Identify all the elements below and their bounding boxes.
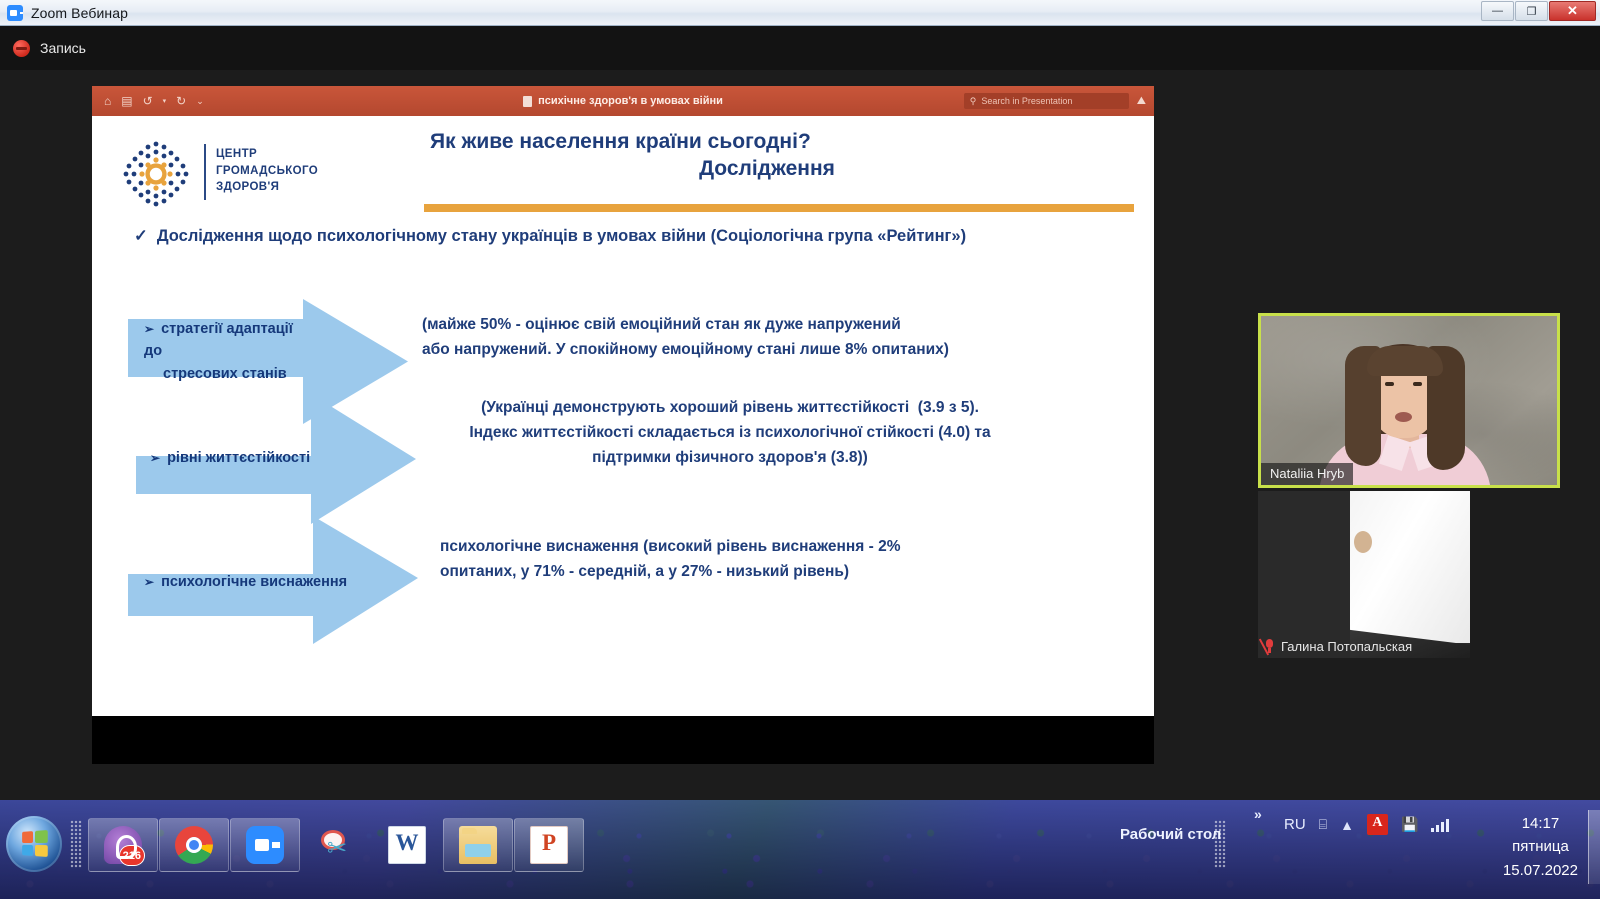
toolbar-gripper-left[interactable] (70, 820, 82, 868)
minimize-button[interactable]: — (1481, 1, 1514, 21)
arrow-shape-3 (128, 516, 418, 646)
taskbar-item-explorer[interactable] (443, 818, 513, 872)
taskbar-item-powerpoint[interactable] (514, 818, 584, 872)
recording-bar: Запись (0, 26, 1600, 70)
system-tray: RU ⌸ ▲ 💾 (1284, 814, 1449, 835)
presentation-toolbar: ⌂ ▤ ↺ ▾ ↻ ⌄ психічне здоров'я в умовах в… (92, 86, 1154, 116)
participant-video-2 (1350, 491, 1470, 643)
taskbar-item-word[interactable] (372, 818, 442, 872)
participant-tile-active-speaker[interactable]: Nataliia Hryb (1258, 313, 1560, 488)
meeting-stage: ⌂ ▤ ↺ ▾ ↻ ⌄ психічне здоров'я в умовах в… (0, 70, 1600, 800)
logo-line-2: ГРОМАДСЬКОГО (216, 163, 318, 180)
more-options-icon[interactable]: ⌄ (196, 97, 204, 106)
block-body-3-line-2: опитаних, у 71% - середній, а у 27% - ни… (440, 559, 1100, 584)
word-icon (388, 826, 426, 864)
start-button[interactable] (6, 816, 62, 872)
document-title-group: психічне здоров'я в умовах війни (463, 95, 783, 107)
participant-video-1 (1261, 316, 1557, 485)
clock-date: 15.07.2022 (1503, 859, 1578, 882)
window-title-bar: Zoom Вебинар — ❐ ✕ (0, 0, 1600, 26)
block-body-1-line-1: (майже 50% - оцінює свій емоційний стан … (422, 312, 1112, 337)
block-body-2-line-2: Індекс життєстійкості складається із пси… (370, 420, 1090, 445)
participant-tile-2[interactable]: Галина Потопальская (1258, 491, 1470, 658)
link-icon[interactable]: ⌸ (1319, 816, 1327, 833)
toolbar-left-icons: ⌂ ▤ ↺ ▾ ↻ ⌄ (92, 95, 204, 107)
shared-presentation-window: ⌂ ▤ ↺ ▾ ↻ ⌄ психічне здоров'я в умовах в… (92, 86, 1154, 764)
logo-mark-icon (120, 138, 192, 210)
search-input[interactable]: ⚲ Search in Presentation (964, 93, 1129, 109)
save-icon[interactable]: ▤ (121, 95, 132, 107)
explorer-icon (459, 826, 497, 864)
clock-time: 14:17 (1503, 812, 1578, 835)
logo-divider (204, 144, 206, 200)
slide-title-line-1: Як живе населення країни сьогодні? (422, 129, 1112, 156)
taskbar-item-viber[interactable]: 216 (88, 818, 158, 872)
block-body-1-line-2: або напружений. У спокійному емоційному … (422, 337, 1112, 362)
participant-name-2: Галина Потопальская (1281, 639, 1412, 654)
checkmark-icon: ✓ (134, 227, 148, 245)
mic-muted-icon (1264, 639, 1275, 654)
block-arrow-icon (128, 516, 418, 646)
undo-caret-icon[interactable]: ▾ (163, 98, 167, 105)
windows-taskbar: 216 Рабочий стол » RU ⌸ ▲ 💾 (0, 800, 1600, 899)
zoom-video-icon (7, 5, 23, 21)
show-hidden-icons-button[interactable]: ▲ (1340, 817, 1354, 833)
participant-name-row-2: Галина Потопальская (1264, 639, 1412, 654)
toolbar-gripper-right[interactable] (1214, 820, 1226, 868)
taskbar-buttons: 216 (88, 818, 584, 872)
toolbar-overflow-chevron[interactable]: » (1254, 806, 1262, 822)
network-bars-icon[interactable] (1431, 817, 1449, 832)
active-speaker-frame: Nataliia Hryb (1258, 313, 1560, 488)
taskbar-item-chrome[interactable] (159, 818, 229, 872)
pin-icon[interactable]: ⛰ (1137, 95, 1146, 108)
lead-bullet-line: ✓Дослідження щодо психологічному стану у… (134, 226, 1124, 246)
logo-text: ЦЕНТР ГРОМАДСЬКОГО ЗДОРОВ'Я (216, 146, 318, 196)
file-icon (523, 96, 532, 107)
removable-device-icon[interactable]: 💾 (1401, 816, 1418, 833)
close-button[interactable]: ✕ (1549, 1, 1596, 21)
window-controls: — ❐ ✕ (1481, 1, 1596, 21)
search-icon: ⚲ (970, 96, 977, 107)
undo-icon[interactable]: ↺ (143, 95, 153, 107)
logo-line-3: ЗДОРОВ'Я (216, 179, 318, 196)
block-body-3: психологічне виснаження (високий рівень … (440, 534, 1100, 584)
clock[interactable]: 14:17 пятница 15.07.2022 (1503, 812, 1578, 882)
title-underline-rule (424, 204, 1134, 212)
block-body-3-line-1: психологічне виснаження (високий рівень … (440, 534, 1100, 559)
slide-canvas: ЦЕНТР ГРОМАДСЬКОГО ЗДОРОВ'Я Як живе насе… (92, 116, 1154, 716)
clock-weekday: пятница (1503, 835, 1578, 858)
block-body-2: (Українці демонструють хороший рівень жи… (370, 395, 1090, 470)
language-indicator[interactable]: RU (1284, 816, 1306, 833)
zoom-icon (246, 826, 284, 864)
taskbar-item-snipping-tool[interactable] (301, 818, 371, 872)
chrome-icon (175, 826, 213, 864)
viber-icon: 216 (104, 826, 142, 864)
powerpoint-icon (530, 826, 568, 864)
search-placeholder: Search in Presentation (981, 96, 1072, 106)
document-title: психічне здоров'я в умовах війни (538, 95, 723, 107)
restore-button[interactable]: ❐ (1515, 1, 1548, 21)
redo-icon[interactable]: ↻ (176, 95, 186, 107)
show-desktop-button[interactable] (1588, 810, 1600, 884)
block-body-2-line-3: підтримки фізичного здоров'я (3.8)) (370, 445, 1090, 470)
desktop-toolbar-label: Рабочий стол (1120, 826, 1221, 843)
block-body-1: (майже 50% - оцінює свій емоційний стан … (422, 312, 1112, 362)
logo-line-1: ЦЕНТР (216, 146, 318, 163)
window-title: Zoom Вебинар (31, 5, 128, 21)
block-body-2-bold: хороший рівень (670, 399, 794, 416)
toolbar-right-group: ⚲ Search in Presentation ⛰ (964, 93, 1146, 109)
taskbar-item-zoom[interactable] (230, 818, 300, 872)
record-stop-icon[interactable] (13, 40, 30, 57)
home-icon[interactable]: ⌂ (104, 95, 111, 107)
slide-title: Як живе населення країни сьогодні? Дослі… (422, 129, 1112, 183)
slide-title-line-2: Дослідження (422, 156, 1112, 183)
recording-label: Запись (40, 40, 86, 56)
organization-logo: ЦЕНТР ГРОМАДСЬКОГО ЗДОРОВ'Я (120, 138, 370, 210)
viber-badge-count: 216 (119, 845, 145, 866)
lead-text: Дослідження щодо психологічному стану ук… (157, 227, 966, 245)
adobe-reader-icon[interactable] (1367, 814, 1388, 835)
windows-logo-icon (22, 830, 48, 857)
desktop-toolbar[interactable]: Рабочий стол (1120, 826, 1221, 843)
block-body-2-line-1: (Українці демонструють хороший рівень жи… (370, 395, 1090, 420)
snipping-tool-icon (317, 826, 355, 864)
participant-name-1: Nataliia Hryb (1261, 463, 1353, 485)
